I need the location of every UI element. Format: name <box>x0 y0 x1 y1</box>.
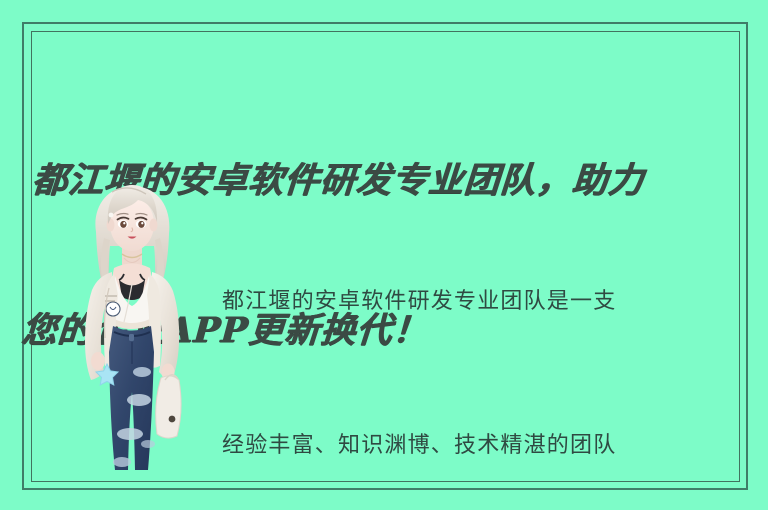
jeans-rip-1 <box>133 367 151 377</box>
handbag <box>156 376 181 438</box>
character-illustration-svg <box>62 176 202 478</box>
jeans-rip-3 <box>117 428 143 440</box>
jeans-rip-4 <box>113 457 131 467</box>
jeans-rip-5 <box>141 440 155 448</box>
eye-highlight-right <box>141 222 143 224</box>
eye-highlight-left <box>123 222 125 224</box>
iris-left <box>120 221 126 228</box>
ear-right <box>150 219 158 232</box>
jeans-button <box>129 334 134 341</box>
character-illustration <box>62 176 202 478</box>
iris-right <box>138 221 144 228</box>
hair-pin-flower <box>109 213 114 218</box>
promo-card: 都江堰的安卓软件研发专业团队，助力 您的企业APP更新换代！ <box>0 0 768 510</box>
handbag-clasp <box>169 416 176 423</box>
body-paragraph: 都江堰的安卓软件研发专业团队是一支 经验丰富、知识渊博、技术精湛的团队 。他们致… <box>222 182 742 510</box>
hand-left <box>91 352 105 370</box>
jeans-rip-2 <box>127 394 151 406</box>
body-line-2: 经验丰富、知识渊博、技术精湛的团队 <box>222 422 742 470</box>
ear-left <box>107 219 115 232</box>
body-line-1: 都江堰的安卓软件研发专业团队是一支 <box>222 278 742 326</box>
